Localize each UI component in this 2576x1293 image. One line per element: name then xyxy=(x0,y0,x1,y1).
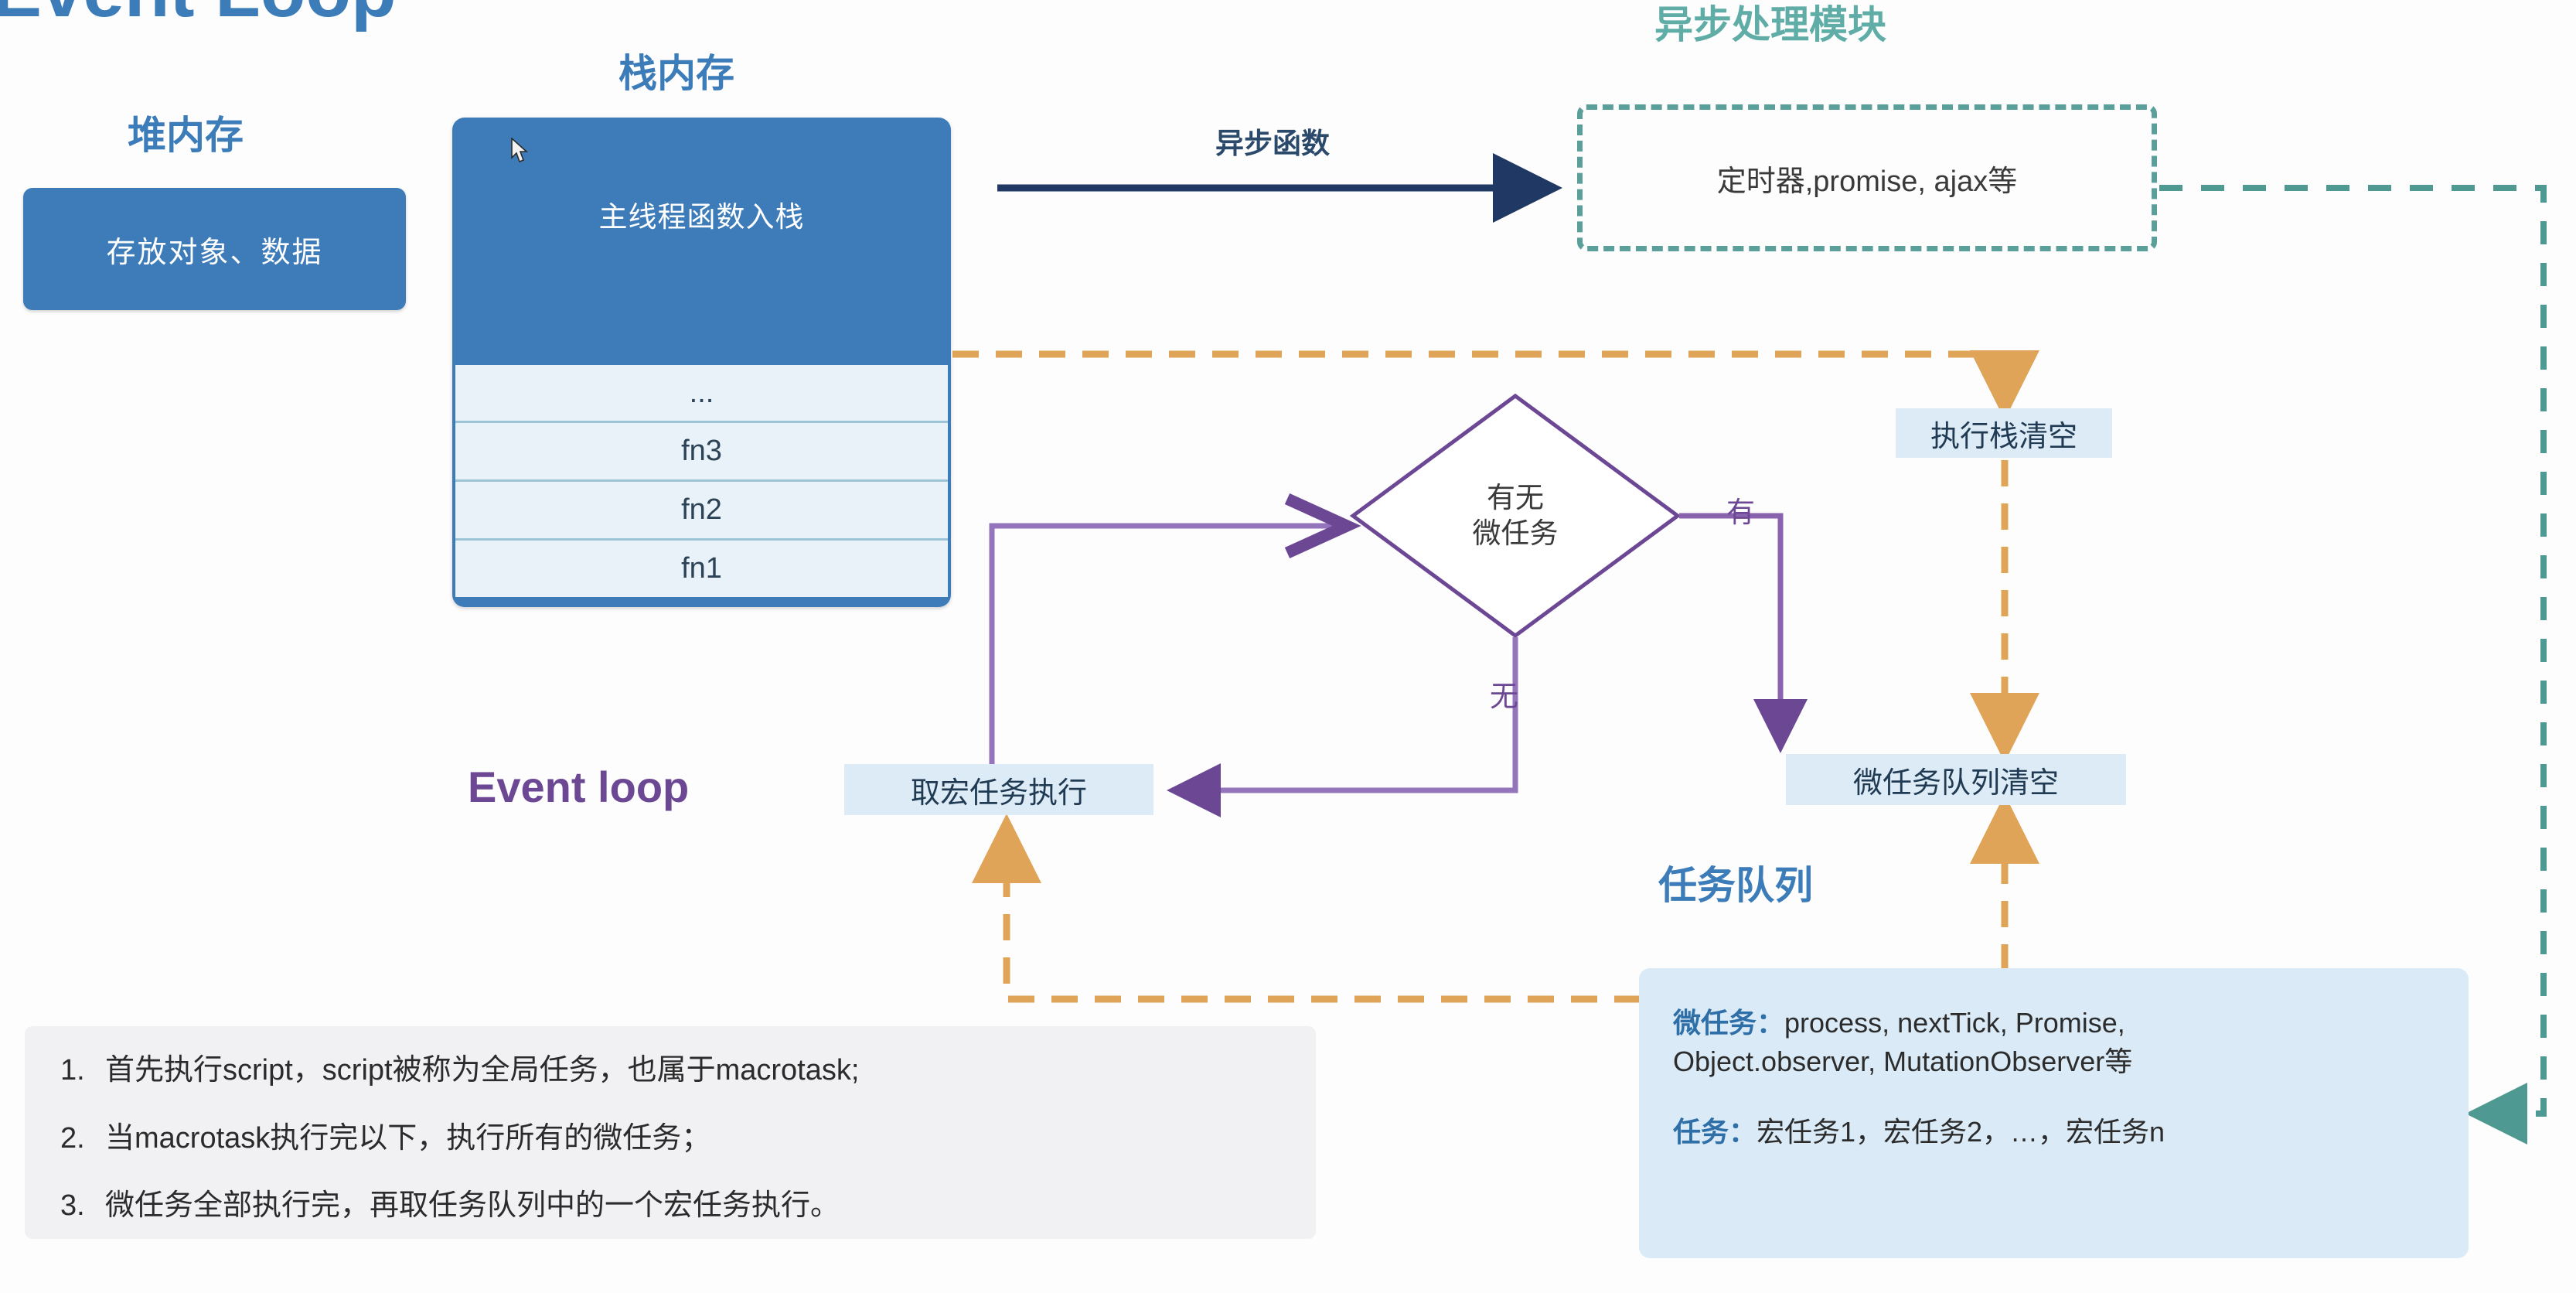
stack-memory-box: 主线程函数入栈 ... fn3 fn2 fn1 xyxy=(452,118,951,607)
queue-task-key: 任务： xyxy=(1673,1116,1757,1148)
note-number: 2. xyxy=(60,1121,105,1158)
chip-exec-stack-clear: 执行栈清空 xyxy=(1896,408,2112,458)
queue-microtask-value-line1: process, nextTick, Promise, xyxy=(1784,1007,2125,1039)
page-title: Event Loop xyxy=(0,0,397,34)
mouse-pointer-icon xyxy=(510,138,530,164)
chip-microtask-queue-clear: 微任务队列清空 xyxy=(1786,754,2126,805)
edge-label-no: 无 xyxy=(1490,673,1518,715)
stack-frame: ... xyxy=(455,365,948,423)
note-item: 2. 当macrotask执行完以下，执行所有的微任务； xyxy=(60,1121,1286,1158)
diagram-canvas: Event Loop 堆内存 栈内存 异步处理模块 任务队列 存放对象、数据 主… xyxy=(0,0,2576,1293)
edge-yes-to-microqueue xyxy=(1679,516,1780,748)
queue-microtask-line: 微任务：process, nextTick, Promise, Object.o… xyxy=(1673,1004,2435,1080)
edge-macrotask-to-decision xyxy=(992,526,1341,764)
note-text: 微任务全部执行完，再取任务队列中的一个宏任务执行。 xyxy=(105,1188,840,1225)
edge-no-to-macrotask xyxy=(1172,637,1515,790)
note-text: 当macrotask执行完以下，执行所有的微任务； xyxy=(105,1121,710,1158)
heap-memory-label: 存放对象、数据 xyxy=(106,228,322,271)
heap-section-title: 堆内存 xyxy=(128,104,244,160)
heap-memory-box: 存放对象、数据 xyxy=(23,188,406,310)
note-item: 1. 首先执行script，script被称为全局任务，也属于macrotask… xyxy=(60,1052,1286,1090)
queue-microtask-key: 微任务： xyxy=(1673,1007,1784,1039)
note-text: 首先执行script，script被称为全局任务，也属于macrotask; xyxy=(105,1052,859,1090)
stack-frame: fn2 xyxy=(455,482,948,541)
note-item: 3. 微任务全部执行完，再取任务队列中的一个宏任务执行。 xyxy=(60,1188,1286,1225)
edge-label-yes: 有 xyxy=(1726,489,1755,531)
notes-panel: 1. 首先执行script，script被称为全局任务，也属于macrotask… xyxy=(25,1026,1316,1239)
stack-section-title: 栈内存 xyxy=(618,43,734,98)
stack-head-label: 主线程函数入栈 xyxy=(599,193,805,235)
note-number: 3. xyxy=(60,1188,105,1225)
queue-task-line: 任务：宏任务1，宏任务2，…，宏任务n xyxy=(1673,1113,2435,1151)
event-loop-caption: Event loop xyxy=(468,762,689,812)
stack-frame: fn1 xyxy=(455,541,948,597)
chip-take-macrotask: 取宏任务执行 xyxy=(844,764,1153,815)
queue-task-value: 宏任务1，宏任务2，…，宏任务n xyxy=(1757,1116,2165,1148)
stack-frame-list: ... fn3 fn2 fn1 xyxy=(455,365,948,597)
decision-label-line1: 有无 xyxy=(1487,480,1544,516)
async-module-box: 定时器,promise, ajax等 xyxy=(1577,104,2157,251)
note-number: 1. xyxy=(60,1052,105,1090)
queue-microtask-value-line2: Object.observer, MutationObserver等 xyxy=(1673,1046,2132,1077)
decision-node: 有无 微任务 xyxy=(1353,396,1678,636)
edge-queue-to-macrotask xyxy=(1007,827,1641,999)
async-section-title: 异步处理模块 xyxy=(1654,0,1886,49)
async-module-label: 定时器,promise, ajax等 xyxy=(1717,157,2018,200)
stack-frame: fn3 xyxy=(455,423,948,482)
task-queue-box: 微任务：process, nextTick, Promise, Object.o… xyxy=(1639,968,2469,1258)
decision-label: 有无 微任务 xyxy=(1353,396,1678,636)
decision-label-line2: 微任务 xyxy=(1473,516,1559,551)
queue-section-title: 任务队列 xyxy=(1658,855,1813,910)
edge-label-async-function: 异步函数 xyxy=(1215,120,1330,162)
